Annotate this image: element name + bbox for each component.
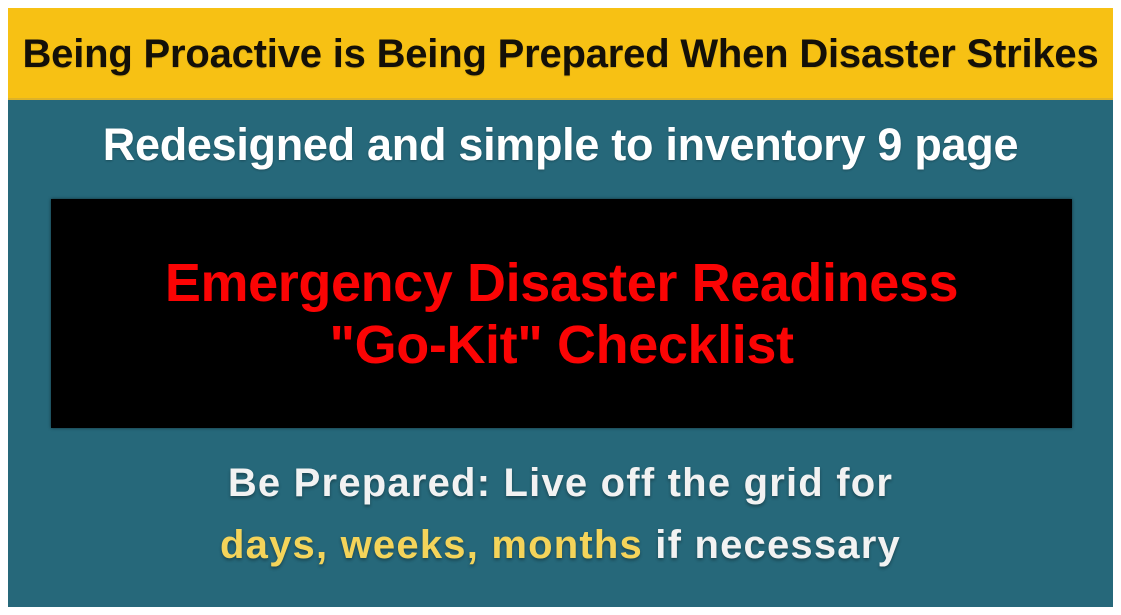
title-plate-line-2-inner: "Go-Kit" Checklist (329, 314, 793, 376)
title-plate-line-1: Emergency Disaster Readiness (165, 252, 958, 314)
tagline-tail: if necessary (643, 523, 901, 567)
headline-text-inner: Being Proactive is Being Prepared When D… (22, 32, 1098, 76)
title-plate-line-1-inner: Emergency Disaster Readiness (165, 252, 958, 314)
title-plate: Emergency Disaster Readiness "Go-Kit" Ch… (51, 199, 1072, 428)
poster-frame: Being Proactive is Being Prepared When D… (8, 8, 1113, 607)
poster-root: Being Proactive is Being Prepared When D… (0, 0, 1121, 615)
headline-text: Being Proactive is Being Prepared When D… (14, 32, 1107, 76)
subhead-text-inner: Redesigned and simple to inventory 9 pag… (103, 112, 1018, 178)
tagline-line-2: days, weeks, months if necessary (8, 514, 1113, 576)
subhead-text: Redesigned and simple to inventory 9 pag… (8, 112, 1113, 178)
header-band: Being Proactive is Being Prepared When D… (8, 8, 1113, 100)
tagline-line-1: Be Prepared: Live off the grid for (8, 452, 1113, 514)
tagline-block: Be Prepared: Live off the grid for days,… (8, 452, 1113, 576)
title-plate-line-2: "Go-Kit" Checklist (329, 314, 793, 376)
tagline-highlight: days, weeks, months (220, 523, 643, 567)
